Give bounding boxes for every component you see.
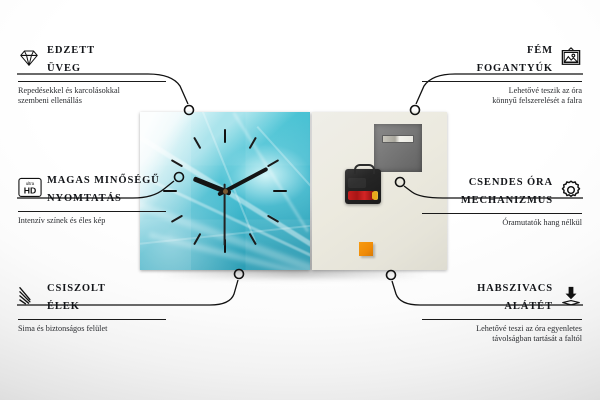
callout-description: Intenzív színek és éles kép <box>18 216 178 226</box>
ultra-hd-icon: ultra HD <box>18 177 40 199</box>
callout-rule <box>422 81 582 82</box>
callout-rule <box>422 319 582 320</box>
picture-hanger-icon <box>560 47 582 69</box>
callout-title-line2: ÜVEG <box>47 63 81 74</box>
foam-pad-arrow-icon <box>560 285 582 307</box>
callout-description: Óramutatók hang nélkül <box>422 218 582 228</box>
callout-description: Lehetővé teszi az óra egyenletes távolsá… <box>422 324 582 344</box>
diamond-icon <box>18 47 40 69</box>
callout-rule <box>422 213 582 214</box>
hand-center-cap <box>223 189 228 194</box>
polished-edge-icon <box>18 285 40 307</box>
callout-title-line1: CSISZOLT <box>47 283 106 294</box>
metal-hanger-plate <box>374 124 422 172</box>
callout-hd-print: ultra HD MAGAS MINŐSÉGŰ NYOMTATÁS Intenz… <box>18 170 178 226</box>
callout-polished-edges: CSISZOLT ÉLEK Sima és biztonságos felüle… <box>18 278 178 334</box>
callout-rule <box>18 319 166 320</box>
callout-metal-handles: FÉM FOGANTYÚK Lehetővé teszik az óra kön… <box>422 40 582 106</box>
callout-rule <box>18 211 166 212</box>
mechanism-hook <box>354 164 375 174</box>
aa-battery <box>348 191 378 200</box>
callout-title-line1: FÉM <box>527 45 553 56</box>
callout-title-line1: MAGAS MINŐSÉGŰ <box>47 175 160 186</box>
callout-foam-pad: HABSZIVACS ALÁTÉT Lehetővé teszi az óra … <box>422 278 582 344</box>
callout-title-line2: ALÁTÉT <box>504 301 553 312</box>
mechanism-seam <box>348 178 366 188</box>
gear-icon <box>560 179 582 201</box>
callout-title-line2: MECHANIZMUS <box>461 195 553 206</box>
callout-tempered-glass: EDZETT ÜVEG Repedésekkel és karcolásokka… <box>18 40 178 106</box>
callout-title-line2: FOGANTYÚK <box>477 63 553 74</box>
callout-rule <box>18 81 166 82</box>
orange-foam-pad <box>359 242 373 256</box>
callout-title-line2: ÉLEK <box>47 301 80 312</box>
callout-title-line1: EDZETT <box>47 45 95 56</box>
callout-title-line2: NYOMTATÁS <box>47 193 122 204</box>
callout-description: Sima és biztonságos felület <box>18 324 178 334</box>
callout-silent-mechanism: CSENDES ÓRA MECHANIZMUS Óramutatók hang … <box>422 172 582 228</box>
svg-text:HD: HD <box>24 185 37 195</box>
callout-description: Repedésekkel és karcolásokkal szembeni e… <box>18 86 178 106</box>
infographic-canvas: EDZETT ÜVEG Repedésekkel és karcolásokka… <box>0 0 600 400</box>
hanger-slot <box>382 135 414 143</box>
product-image <box>140 112 447 272</box>
callout-title-line1: CSENDES ÓRA <box>469 177 553 188</box>
clock-mechanism <box>345 169 381 204</box>
callout-description: Lehetővé teszik az óra könnyű felszerelé… <box>422 86 582 106</box>
callout-title-line1: HABSZIVACS <box>477 283 553 294</box>
